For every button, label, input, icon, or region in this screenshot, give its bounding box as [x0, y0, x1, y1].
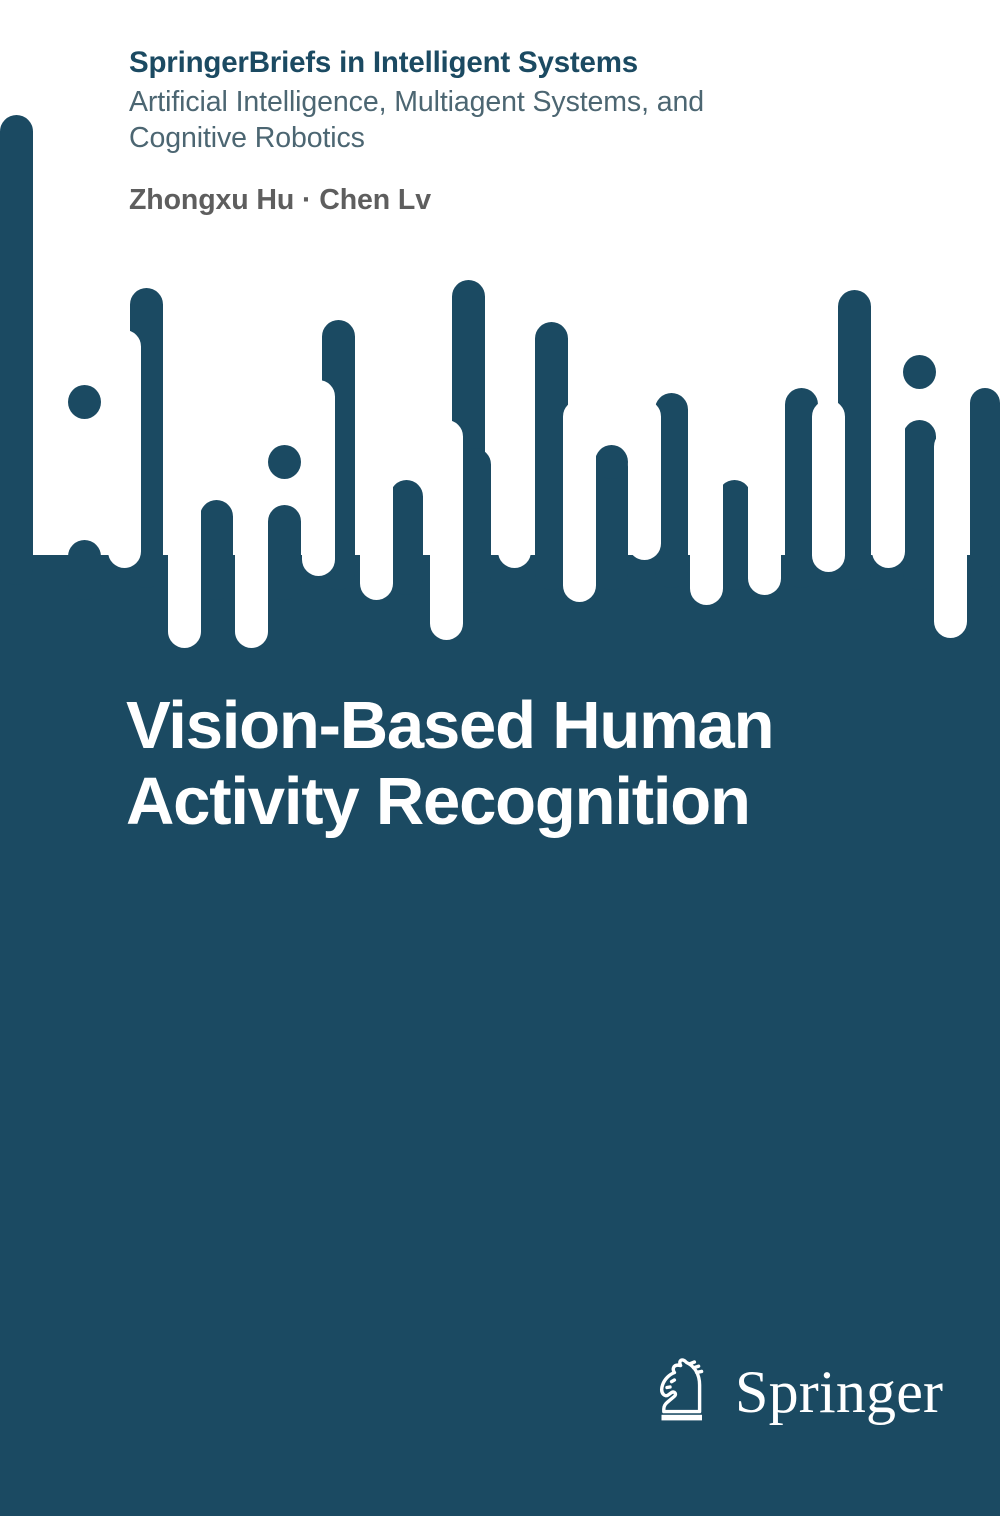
series-title: SpringerBriefs in Intelligent Systems	[129, 46, 959, 81]
book-title-line-1: Vision-Based Human	[126, 688, 926, 764]
publisher-logo: Springer	[655, 1352, 915, 1432]
springer-wordmark: Springer	[735, 1362, 943, 1422]
header-block: SpringerBriefs in Intelligent Systems Ar…	[129, 46, 959, 217]
springer-knight-icon	[655, 1356, 717, 1428]
book-title: Vision-Based Human Activity Recognition	[126, 688, 926, 839]
wave-dot	[68, 385, 101, 419]
wave-dot	[268, 445, 301, 479]
authors: Zhongxu Hu · Chen Lv	[129, 184, 959, 217]
book-title-line-2: Activity Recognition	[126, 764, 926, 840]
series-subtitle: Artificial Intelligence, Multiagent Syst…	[129, 85, 809, 157]
wave-dot	[595, 445, 628, 479]
book-cover: SpringerBriefs in Intelligent Systems Ar…	[0, 0, 1000, 1516]
wave-dot	[903, 355, 936, 389]
